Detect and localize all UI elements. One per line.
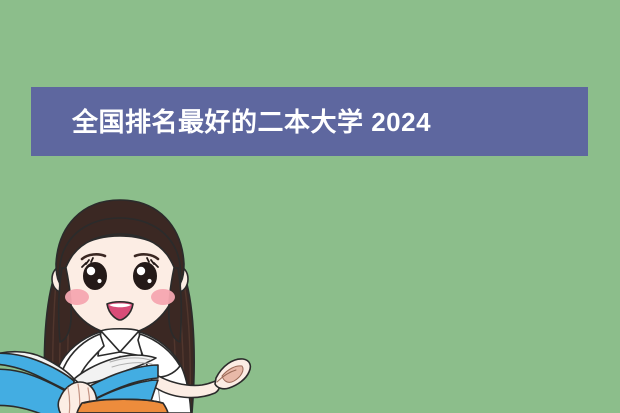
- page-title: 全国排名最好的二本大学 2024: [72, 109, 431, 135]
- student-girl-holding-book-illustration: [0, 160, 300, 413]
- poster-canvas: 全国排名最好的二本大学 2024: [0, 0, 620, 413]
- title-banner: 全国排名最好的二本大学 2024: [31, 87, 588, 156]
